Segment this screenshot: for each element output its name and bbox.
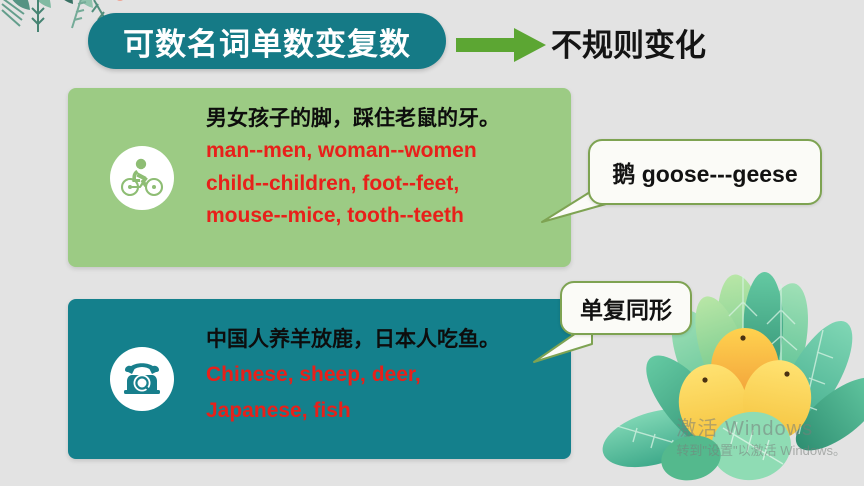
green-box-english-line-3: mouse--mice, tooth--teeth: [206, 200, 561, 231]
page-title: 可数名词单数变复数: [123, 19, 411, 64]
goose-callout: 鹅 goose---geese: [588, 139, 822, 205]
slide-title-pill: 可数名词单数变复数: [88, 13, 446, 69]
goose-callout-text: 鹅 goose---geese: [612, 155, 797, 189]
slide-canvas: 可数名词单数变复数 不规则变化: [0, 0, 864, 486]
green-content-box: 男女孩子的脚，踩住老鼠的牙。 man--men, woman--women ch…: [68, 88, 571, 267]
telephone-icon: [120, 357, 164, 401]
plant-illustration-icon: [593, 242, 864, 486]
cyclist-icon: [119, 155, 165, 201]
windows-activation-watermark: 激活 Windows 转到"设置"以激活 Windows。: [676, 418, 846, 460]
green-box-text: 男女孩子的脚，踩住老鼠的牙。 man--men, woman--women ch…: [206, 104, 561, 231]
subtitle-label: 不规则变化: [551, 20, 706, 65]
green-box-english-line-2: child--children, foot--feet,: [206, 168, 561, 199]
teal-box-english-line-1: Chinese, sheep, deer,: [206, 359, 561, 390]
teal-box-chinese-line: 中国人养羊放鹿，日本人吃鱼。: [206, 325, 561, 355]
watermark-subtitle: 转到"设置"以激活 Windows。: [676, 443, 846, 460]
green-box-english-line-1: man--men, woman--women: [206, 135, 561, 166]
cyclist-icon-circle: [110, 146, 174, 210]
same-form-callout-text: 单复同形: [580, 291, 672, 325]
arrow-right-icon: [456, 28, 546, 62]
teal-content-box: 中国人养羊放鹿，日本人吃鱼。 Chinese, sheep, deer, Jap…: [68, 299, 571, 459]
green-box-chinese-line: 男女孩子的脚，踩住老鼠的牙。: [206, 104, 561, 134]
same-form-callout: 单复同形: [560, 281, 692, 335]
teal-box-english-line-2: Japanese, fish: [206, 395, 561, 426]
telephone-icon-circle: [110, 347, 174, 411]
teal-box-text: 中国人养羊放鹿，日本人吃鱼。 Chinese, sheep, deer, Jap…: [206, 325, 561, 426]
watermark-title: 激活 Windows: [676, 418, 846, 441]
